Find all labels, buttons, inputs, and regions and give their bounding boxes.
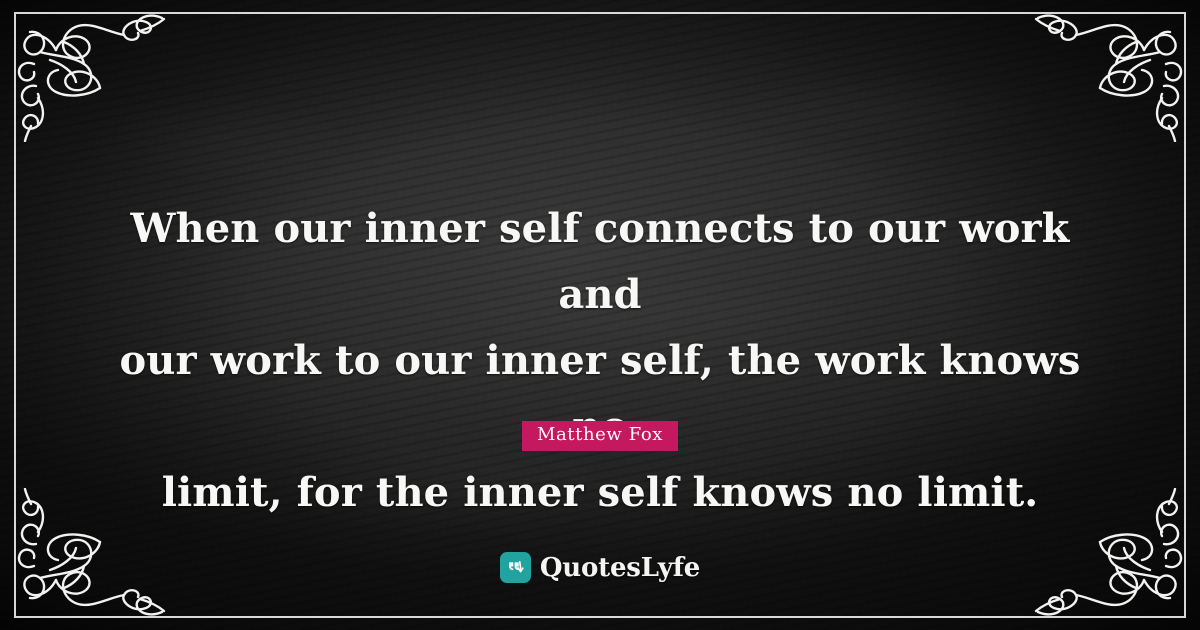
quote-block: When our inner self connects to our work… — [0, 196, 1200, 526]
author-row: Matthew Fox — [0, 421, 1200, 451]
quote-line-1: When our inner self connects to our work… — [110, 196, 1090, 328]
brand-name: QuotesLyfe — [540, 553, 700, 583]
quote-card: When our inner self connects to our work… — [0, 0, 1200, 630]
brand-logo: QuotesLyfe — [0, 552, 1200, 583]
author-name-badge: Matthew Fox — [522, 421, 678, 451]
quote-bubble-icon — [500, 552, 531, 583]
quote-line-3: limit, for the inner self knows no limit… — [110, 460, 1090, 526]
